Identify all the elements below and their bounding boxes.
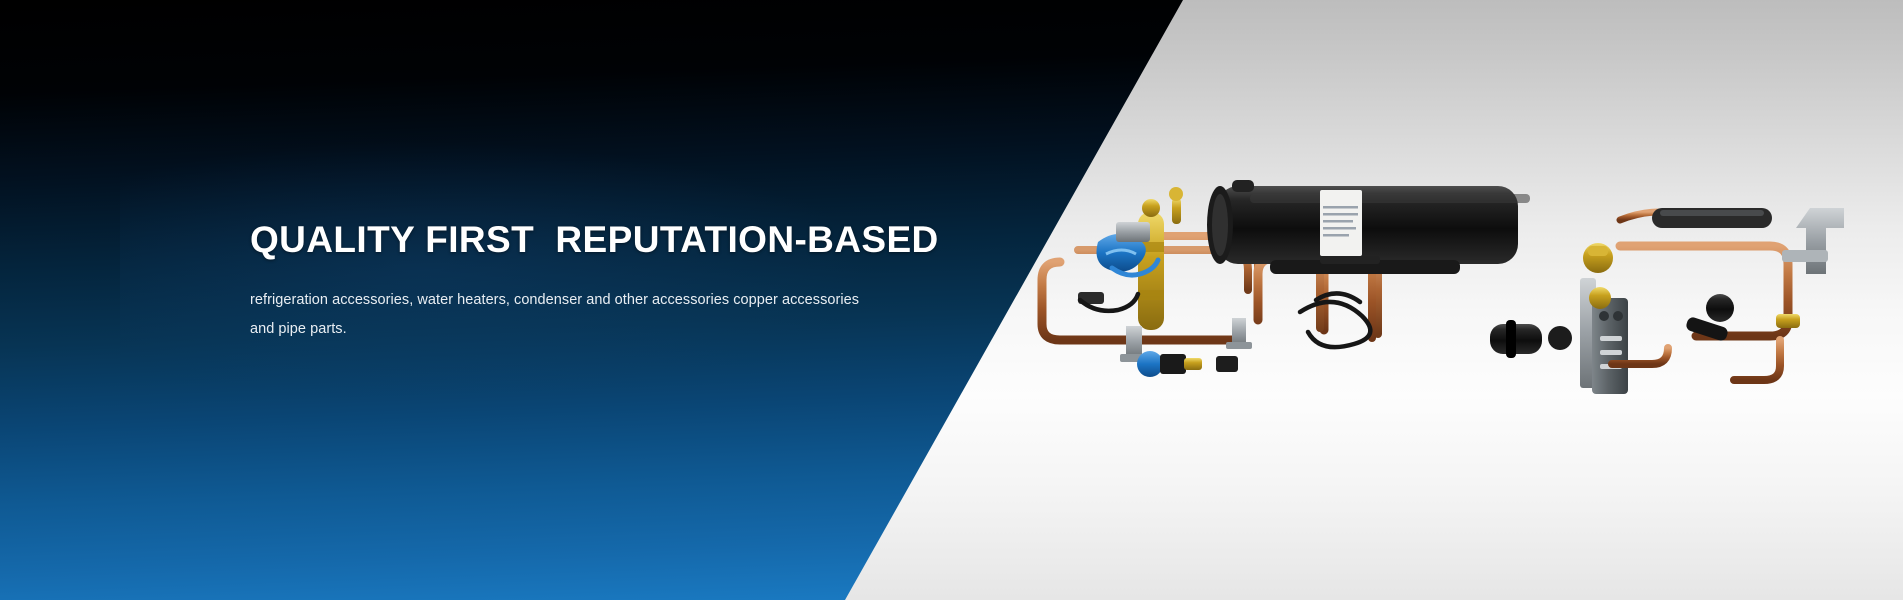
heat-exchanger-tube	[1652, 208, 1772, 228]
sensor-bulb	[1490, 320, 1572, 358]
hero-banner: QUALITY FIRST REPUTATION-BASED refrigera…	[0, 0, 1903, 600]
hero-subtitle: refrigeration accessories, water heaters…	[250, 286, 870, 345]
product-image	[1020, 150, 1890, 410]
accumulator-cylinder	[1207, 180, 1530, 274]
copper-return-bends	[1612, 340, 1780, 380]
cylinder-label	[1320, 190, 1362, 256]
hero-text-block: QUALITY FIRST REPUTATION-BASED refrigera…	[250, 218, 910, 345]
page-title: QUALITY FIRST REPUTATION-BASED	[250, 218, 910, 262]
mounting-bracket	[1078, 292, 1252, 362]
four-way-valve	[1138, 187, 1183, 330]
service-valve	[1137, 351, 1238, 377]
copper-tubing-right	[1620, 212, 1788, 336]
